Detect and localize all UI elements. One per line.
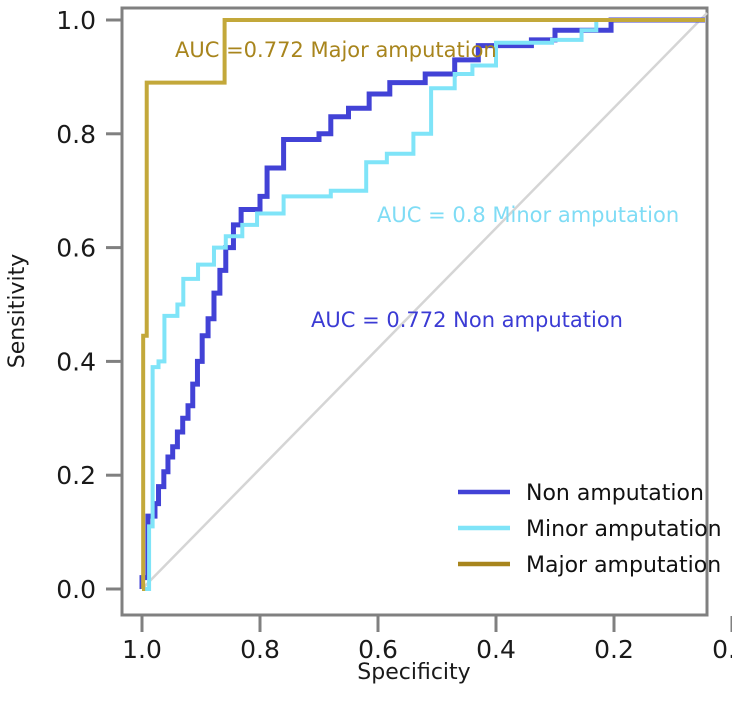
y-axis-tick-labels: 0.00.20.40.60.81.0 (56, 6, 96, 604)
y-tick-label: 0.6 (56, 234, 96, 263)
y-axis-title: Sensitivity (5, 254, 30, 369)
legend-label-major-amputation[interactable]: Major amputation (526, 553, 721, 578)
x-axis-ticks (142, 616, 732, 632)
x-tick-label: 0.8 (240, 635, 280, 664)
auc-non-label: AUC = 0.772 Non amputation (311, 308, 623, 332)
x-tick-label: 0.4 (476, 635, 516, 664)
legend-label-non-amputation[interactable]: Non amputation (526, 481, 704, 506)
y-axis-ticks (106, 20, 122, 589)
x-tick-label: 0.0 (712, 635, 732, 664)
auc-minor-label: AUC = 0.8 Minor amputation (377, 203, 679, 227)
roc-chart-figure: 1.00.80.60.40.20.0 0.00.20.40.60.81.0 AU… (0, 0, 732, 706)
y-tick-label: 0.0 (56, 575, 96, 604)
y-tick-label: 0.2 (56, 461, 96, 490)
y-tick-label: 0.4 (56, 347, 96, 376)
roc-plot-svg: 1.00.80.60.40.20.0 0.00.20.40.60.81.0 AU… (0, 0, 732, 706)
x-tick-label: 0.2 (594, 635, 634, 664)
x-axis-title: Specificity (357, 660, 470, 685)
x-tick-label: 1.0 (122, 635, 162, 664)
legend-label-minor-amputation[interactable]: Minor amputation (526, 517, 722, 542)
auc-major-label: AUC =0.772 Major amputation (175, 38, 497, 62)
y-tick-label: 0.8 (56, 120, 96, 149)
y-tick-label: 1.0 (56, 6, 96, 35)
